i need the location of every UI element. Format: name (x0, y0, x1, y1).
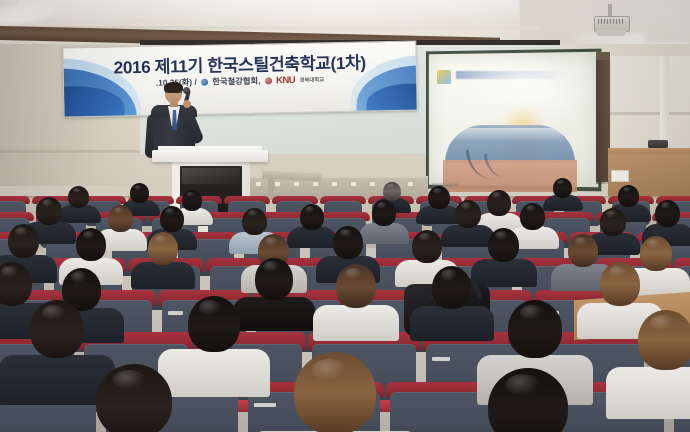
audience-member-hair-highlight (609, 266, 626, 277)
audience-member-hair-highlight (557, 180, 565, 185)
audience-member-hair-highlight (461, 202, 472, 209)
audience-member-hair-highlight (495, 231, 508, 240)
audience-member-hair-highlight (345, 268, 362, 279)
audience-member-hair-highlight (606, 210, 617, 217)
audience-member-hair-highlight (42, 199, 53, 206)
cabinet-handle (294, 182, 299, 186)
audience-member-shoulders (287, 227, 337, 248)
cabinet-handle (275, 182, 280, 186)
audience-member-shoulders (158, 349, 270, 397)
cabinet-handle (313, 182, 318, 186)
cabinet-handle (256, 182, 261, 186)
audience-member-hair-highlight (71, 271, 87, 282)
seat-label (254, 403, 276, 407)
auditorium-seating (0, 0, 690, 432)
audience-member-shoulders (359, 223, 409, 244)
audience-member-hair-highlight (387, 184, 395, 189)
audience-member-hair-highlight (520, 305, 543, 320)
audience-member-shoulders (441, 225, 495, 247)
audience-member-hair-highlight (186, 192, 194, 197)
audience-member-shoulders (233, 297, 315, 331)
audience-member-hair-highlight (312, 359, 346, 380)
audience-member-hair-highlight (441, 269, 457, 280)
audience-member-shoulders (606, 367, 690, 419)
audience-member-shoulders (131, 262, 195, 289)
audience-member-hair-highlight (650, 315, 674, 331)
audience-member-shoulders (410, 306, 494, 341)
audience-member-hair-highlight (15, 227, 28, 236)
seat-label (168, 311, 183, 315)
audience-member-hair-highlight (1, 266, 18, 277)
audience-member-shoulders (471, 259, 537, 287)
audience-member-hair-highlight (506, 374, 540, 394)
audience-member-hair-highlight (265, 237, 278, 246)
seat-label (432, 357, 450, 361)
lecture-hall-photo: 2016 제11기 한국스틸건축학교(1차) .10.25(화) / 한국철강협… (0, 0, 690, 432)
audience-member-shoulders (313, 305, 399, 341)
audience-member-hair-highlight (134, 185, 142, 190)
cabinet-handle (332, 182, 337, 186)
cabinet-handle (408, 182, 413, 186)
cabinet-handle (351, 182, 356, 186)
audience-member-hair-highlight (113, 370, 145, 389)
audience-member-hair-highlight (433, 188, 442, 194)
cabinet-handle (370, 182, 375, 186)
audience-member-hair-highlight (42, 305, 65, 320)
